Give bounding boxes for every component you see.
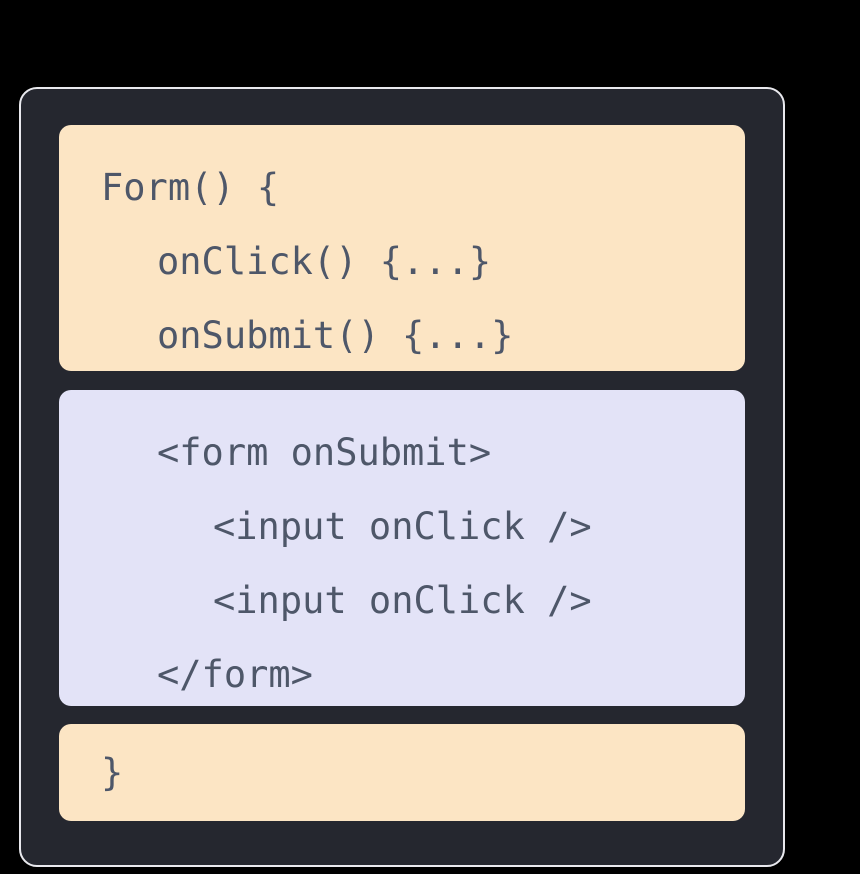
code-line: <input onClick />	[85, 564, 719, 638]
code-line: <form onSubmit>	[85, 416, 719, 490]
code-line: <input onClick />	[85, 490, 719, 564]
code-line: </form>	[85, 638, 719, 712]
code-block-markup: <form onSubmit> <input onClick /> <input…	[59, 390, 745, 706]
code-line: Form() {	[85, 151, 719, 225]
code-line: }	[85, 736, 719, 810]
code-block-component-tail: }	[59, 724, 745, 821]
code-line: onClick() {...}	[85, 225, 719, 299]
code-block-component-head: Form() { onClick() {...} onSubmit() {...…	[59, 125, 745, 371]
code-panel: Form() { onClick() {...} onSubmit() {...…	[19, 87, 785, 867]
page-root: Form() { onClick() {...} onSubmit() {...…	[0, 0, 860, 874]
code-line: onSubmit() {...}	[85, 299, 719, 373]
